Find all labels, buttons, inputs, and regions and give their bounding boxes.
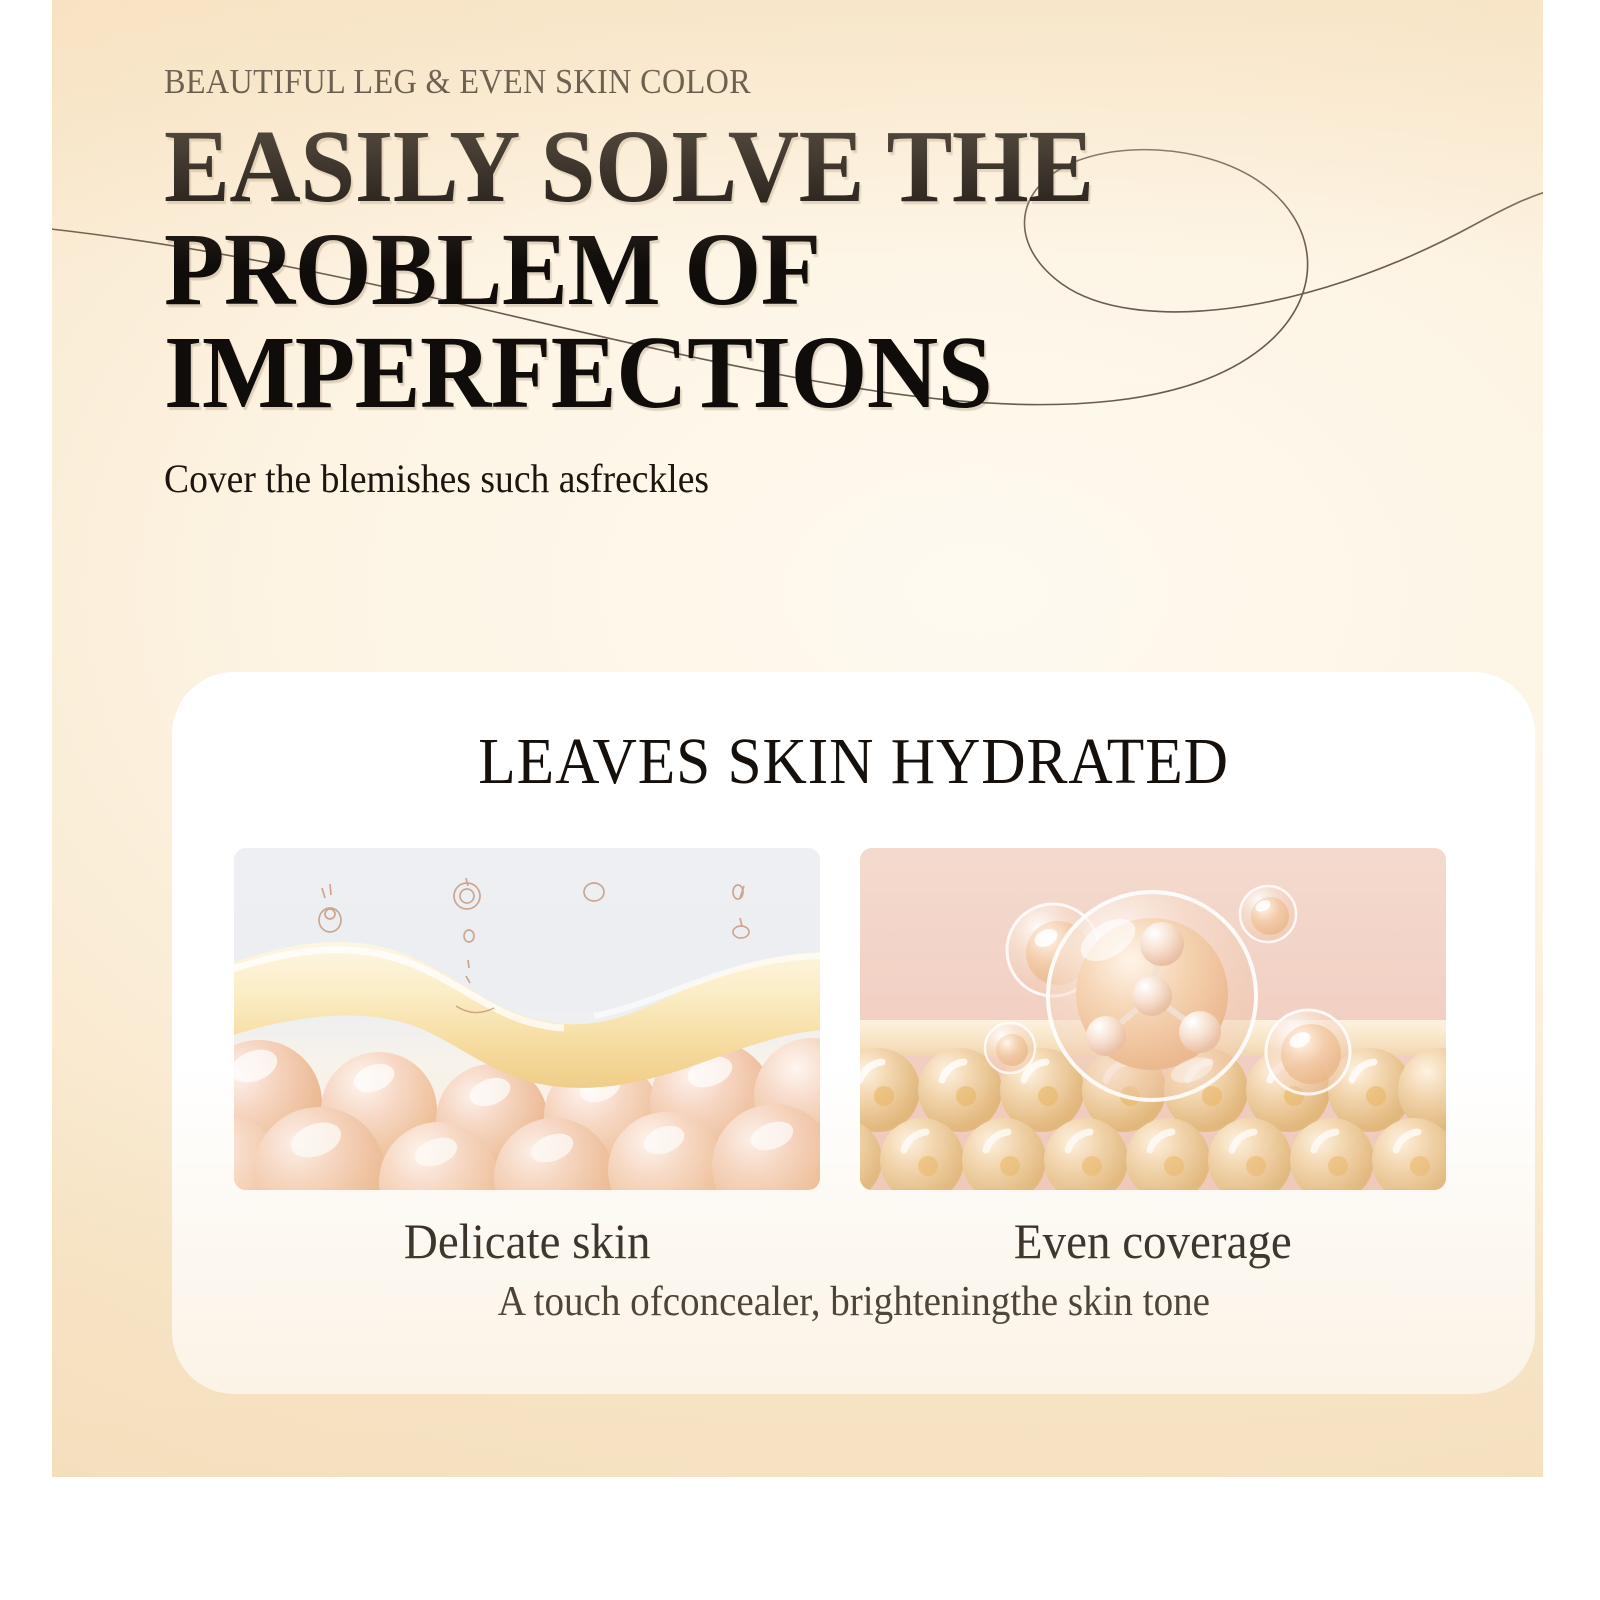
figure-caption-delicate-skin: Delicate skin bbox=[234, 1212, 820, 1270]
molecule-bubble-illustration bbox=[860, 848, 1446, 1190]
headline-line-2: PROBLEM OF bbox=[164, 219, 1285, 322]
hero-eyebrow: BEAUTIFUL LEG & EVEN SKIN COLOR bbox=[164, 62, 1250, 102]
hero-text-block: BEAUTIFUL LEG & EVEN SKIN COLOR EASILY S… bbox=[164, 62, 1344, 502]
serum-wave-graphic bbox=[234, 848, 820, 1190]
hero-headline: EASILY SOLVE THE PROBLEM OF IMPERFECTION… bbox=[164, 116, 1285, 425]
card-title-text: LEAVES SKIN HYDRATED bbox=[478, 724, 1229, 800]
figure-row: Delicate skin bbox=[234, 848, 1474, 1270]
headline-line-1: EASILY SOLVE THE bbox=[164, 116, 1285, 219]
figure-caption-even-coverage: Even coverage bbox=[860, 1212, 1446, 1270]
card-footnote-text: A touch ofconcealer, brighteningthe skin… bbox=[497, 1278, 1209, 1326]
card-footnote: A touch ofconcealer, brighteningthe skin… bbox=[172, 1278, 1535, 1326]
product-detail-page: BEAUTIFUL LEG & EVEN SKIN COLOR EASILY S… bbox=[0, 0, 1600, 1600]
hydration-feature-card: LEAVES SKIN HYDRATED bbox=[172, 672, 1535, 1394]
figure-caption-text: Even coverage bbox=[1014, 1212, 1292, 1270]
figure-caption-text: Delicate skin bbox=[404, 1212, 651, 1270]
headline-line-3: IMPERFECTIONS bbox=[164, 322, 1285, 425]
hero-subcopy: Cover the blemishes such asfreckles bbox=[164, 455, 1273, 502]
figure-item-delicate-skin: Delicate skin bbox=[234, 848, 820, 1270]
serum-wave-illustration bbox=[234, 848, 820, 1190]
figure-item-even-coverage: Even coverage bbox=[860, 848, 1446, 1270]
card-title: LEAVES SKIN HYDRATED bbox=[172, 724, 1535, 800]
cream-background-panel: BEAUTIFUL LEG & EVEN SKIN COLOR EASILY S… bbox=[52, 0, 1543, 1477]
molecule-bubble-graphic bbox=[860, 848, 1446, 1190]
main-molecule-bubble bbox=[1048, 892, 1256, 1100]
